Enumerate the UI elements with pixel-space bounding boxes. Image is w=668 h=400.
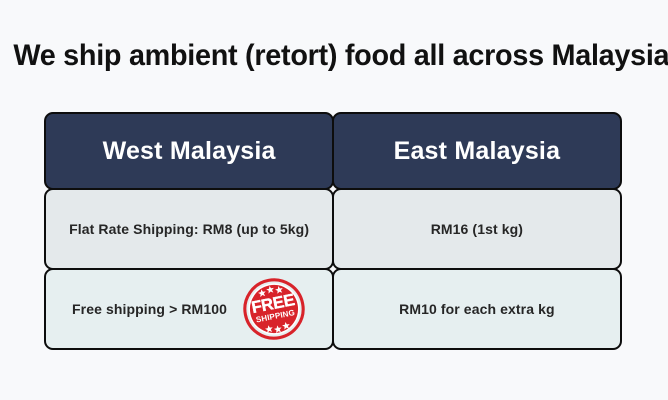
column-header-west-malaysia-label: West Malaysia <box>103 137 276 166</box>
table-row: Flat Rate Shipping: RM8 (up to 5kg) RM16… <box>44 190 622 270</box>
page-title: We ship ambient (retort) food all across… <box>13 38 654 74</box>
column-header-east-malaysia-label: East Malaysia <box>394 137 561 166</box>
table-header-row: West Malaysia East Malaysia <box>44 112 622 190</box>
cell-west-base-rate-label: Flat Rate Shipping: RM8 (up to 5kg) <box>69 221 309 237</box>
cell-east-base-rate-label: RM16 (1st kg) <box>431 221 523 237</box>
promo-graphic: We ship ambient (retort) food all across… <box>0 0 668 400</box>
free-shipping-stamp-icon: FREE SHIPPING <box>238 272 311 345</box>
cell-west-base-rate: Flat Rate Shipping: RM8 (up to 5kg) <box>44 188 334 271</box>
cell-west-free-shipping: Free shipping > RM100 <box>44 268 334 351</box>
column-header-east-malaysia: East Malaysia <box>332 112 622 190</box>
cell-east-extra-rate: RM10 for each extra kg <box>332 268 622 351</box>
cell-east-base-rate: RM16 (1st kg) <box>332 188 622 271</box>
table-row: Free shipping > RM100 <box>44 270 622 350</box>
shipping-rate-table: West Malaysia East Malaysia Flat Rate Sh… <box>44 112 622 350</box>
cell-west-free-shipping-label: Free shipping > RM100 <box>72 301 227 317</box>
cell-east-extra-rate-label: RM10 for each extra kg <box>399 301 554 317</box>
column-header-west-malaysia: West Malaysia <box>44 112 334 190</box>
